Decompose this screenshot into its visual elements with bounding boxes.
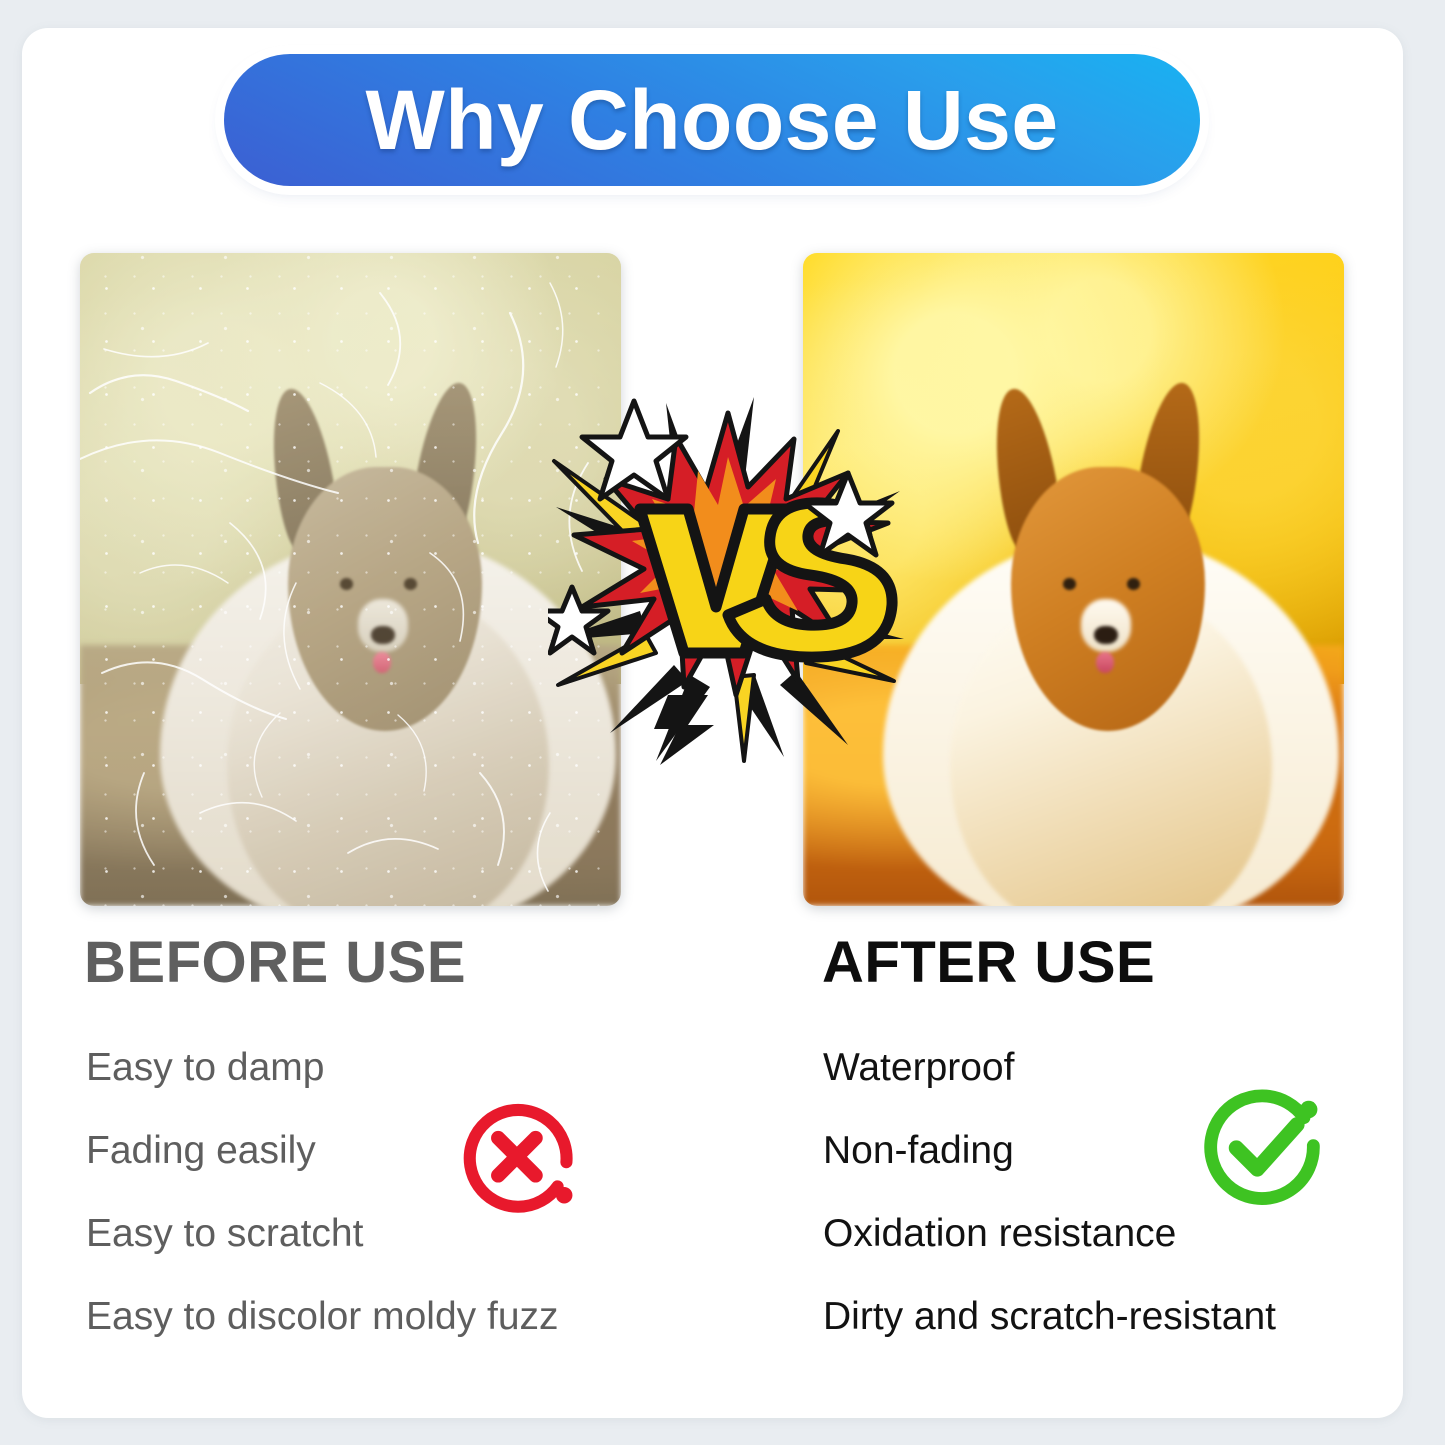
after-dog [944, 377, 1279, 906]
before-heading: BEFORE USE [84, 934, 466, 992]
before-photo-scene [80, 253, 621, 906]
cross-circle-icon [452, 1094, 584, 1226]
before-fade-overlay [80, 253, 621, 906]
vs-burst-icon [548, 395, 908, 765]
after-heading: AFTER USE [822, 934, 1155, 992]
header-banner: Why Choose Use [224, 54, 1200, 186]
page-title: Why Choose Use [365, 78, 1058, 162]
dog-eye-left [1063, 578, 1076, 590]
dog-nose [1094, 626, 1117, 645]
before-photo [80, 253, 621, 906]
list-item: Easy to damp [86, 1048, 646, 1087]
dog-eye-right [1127, 578, 1140, 590]
infographic-stage: Why Choose Use [0, 0, 1445, 1445]
list-item: Oxidation resistance [823, 1214, 1383, 1253]
dog-tongue [1096, 652, 1114, 673]
check-circle-icon [1192, 1078, 1332, 1218]
list-item: Easy to discolor moldy fuzz [86, 1297, 646, 1336]
list-item: Dirty and scratch-resistant [823, 1297, 1383, 1336]
